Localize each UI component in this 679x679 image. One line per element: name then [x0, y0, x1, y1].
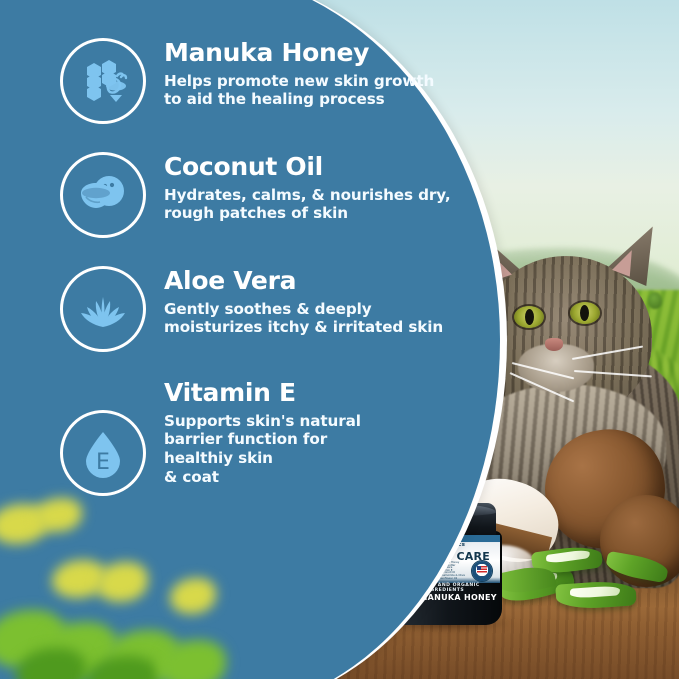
- feature-title: Aloe Vera: [164, 268, 443, 295]
- feature-desc-line: Hydrates, calms, & nourishes dry,: [164, 186, 451, 205]
- vitamin-e-droplet-icon: E: [60, 410, 146, 496]
- feature-desc-line: healthiy skin: [164, 449, 361, 468]
- feature-desc-line: barrier function for: [164, 430, 361, 449]
- feature-desc-line: & coat: [164, 468, 361, 487]
- feature-vitamin-e: E Vitamin E Supports skin's natural barr…: [60, 380, 361, 496]
- honeycomb-bee-icon: [60, 38, 146, 124]
- feature-desc-line: Supports skin's natural: [164, 412, 361, 431]
- feature-desc-line: Helps promote new skin growth: [164, 72, 434, 91]
- feature-title: Vitamin E: [164, 380, 361, 407]
- feature-description: Helps promote new skin growth to aid the…: [164, 72, 434, 110]
- feature-description: Gently soothes & deeply moisturizes itch…: [164, 300, 443, 338]
- feature-text: Manuka Honey Helps promote new skin grow…: [164, 38, 434, 109]
- feature-desc-line: to aid the healing process: [164, 90, 434, 109]
- coconut-icon: [60, 152, 146, 238]
- feature-desc-line: Gently soothes & deeply: [164, 300, 443, 319]
- feature-title: Coconut Oil: [164, 154, 451, 181]
- product-infographic: resq organics CAT SKIN CARE Manuka Honey…: [0, 0, 679, 679]
- feature-manuka-honey: Manuka Honey Helps promote new skin grow…: [60, 38, 434, 124]
- feature-text: Coconut Oil Hydrates, calms, & nourishes…: [164, 152, 451, 223]
- svg-text:E: E: [96, 450, 110, 475]
- aloe-plant-icon: [60, 266, 146, 352]
- feature-title: Manuka Honey: [164, 40, 434, 67]
- feature-aloe-vera: Aloe Vera Gently soothes & deeply moistu…: [60, 266, 443, 352]
- feature-desc-line: rough patches of skin: [164, 204, 451, 223]
- feature-text: Aloe Vera Gently soothes & deeply moistu…: [164, 266, 443, 337]
- feature-text: Vitamin E Supports skin's natural barrie…: [164, 380, 361, 487]
- feature-description: Hydrates, calms, & nourishes dry, rough …: [164, 186, 451, 224]
- feature-coconut-oil: Coconut Oil Hydrates, calms, & nourishes…: [60, 152, 451, 238]
- feature-description: Supports skin's natural barrier function…: [164, 412, 361, 487]
- feature-desc-line: moisturizes itchy & irritated skin: [164, 318, 443, 337]
